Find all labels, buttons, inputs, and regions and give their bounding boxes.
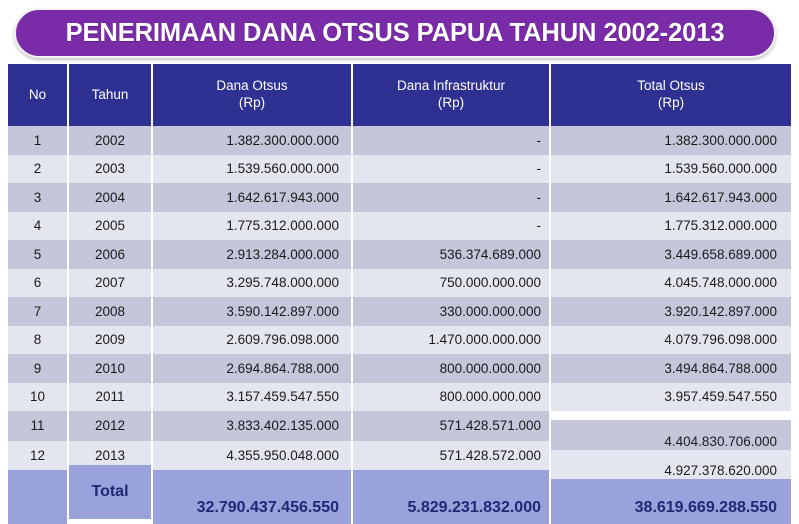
title-banner: PENERIMAAN DANA OTSUS PAPUA TAHUN 2002-2… <box>14 8 776 58</box>
cell-dana-otsus: 3.157.459.547.550 <box>152 383 352 412</box>
cell-dana-infrastruktur: - <box>352 183 550 212</box>
cell-dana-otsus: 2.694.864.788.000 <box>152 354 352 383</box>
table-row: 10 2011 3.157.459.547.550 800.000.000.00… <box>8 383 791 412</box>
cell-dana-infrastruktur: 800.000.000.000 <box>352 354 550 383</box>
cell-total-otsus: 1.382.300.000.000 <box>550 126 791 155</box>
column-header-total-otsus-line2: (Rp) <box>551 95 791 112</box>
table-row: 6 2007 3.295.748.000.000 750.000.000.000… <box>8 269 791 298</box>
column-header-dana-infrastruktur-line1: Dana Infrastruktur <box>353 78 549 95</box>
cell-dana-infrastruktur: 571.428.571.000 <box>352 411 550 441</box>
column-header-dana-infrastruktur: Dana Infrastruktur (Rp) <box>352 64 550 126</box>
cell-tahun: 2010 <box>68 354 152 383</box>
cell-total-otsus: 3.957.459.547.550 <box>550 383 791 412</box>
cell-no: 4 <box>8 212 68 241</box>
cell-no: 6 <box>8 269 68 298</box>
column-header-dana-otsus-line2: (Rp) <box>153 95 351 112</box>
cell-dana-infrastruktur: - <box>352 126 550 155</box>
column-header-total-otsus-line1: Total Otsus <box>551 78 791 95</box>
cell-dana-otsus: 3.295.748.000.000 <box>152 269 352 298</box>
cell-no: 10 <box>8 383 68 412</box>
table-row: 1 2002 1.382.300.000.000 - 1.382.300.000… <box>8 126 791 155</box>
cell-tahun: 2011 <box>68 383 152 412</box>
total-row-dana-otsus: 32.790.437.456.550 <box>152 470 352 524</box>
cell-tahun: 2003 <box>68 155 152 184</box>
table-row: 8 2009 2.609.796.098.000 1.470.000.000.0… <box>8 326 791 355</box>
column-header-no: No <box>8 64 68 126</box>
cell-dana-otsus: 3.590.142.897.000 <box>152 297 352 326</box>
cell-total-otsus: 3.494.864.788.000 <box>550 354 791 383</box>
cell-no: 5 <box>8 240 68 269</box>
cell-total-otsus: 4.079.796.098.000 <box>550 326 791 355</box>
column-header-dana-otsus: Dana Otsus (Rp) <box>152 64 352 126</box>
cell-dana-otsus: 1.775.312.000.000 <box>152 212 352 241</box>
cell-no: 11 <box>8 411 68 441</box>
cell-total-otsus: 4.927.378.620.000 <box>550 450 791 480</box>
cell-dana-infrastruktur: 800.000.000.000 <box>352 383 550 412</box>
table-row: 7 2008 3.590.142.897.000 330.000.000.000… <box>8 297 791 326</box>
cell-total-otsus: 4.404.830.706.000 <box>550 420 791 450</box>
cell-no: 2 <box>8 155 68 184</box>
cell-dana-infrastruktur: 1.470.000.000.000 <box>352 326 550 355</box>
table-row: 2 2003 1.539.560.000.000 - 1.539.560.000… <box>8 155 791 184</box>
cell-total-otsus: 3.449.658.689.000 <box>550 240 791 269</box>
cell-dana-infrastruktur: 571.428.572.000 <box>352 441 550 471</box>
cell-tahun: 2008 <box>68 297 152 326</box>
cell-no: 9 <box>8 354 68 383</box>
column-header-tahun-line1: Tahun <box>69 87 151 104</box>
column-header-dana-otsus-line1: Dana Otsus <box>153 78 351 95</box>
total-row-dana-infrastruktur: 5.829.231.832.000 <box>352 470 550 524</box>
total-row-no <box>8 470 68 524</box>
cell-dana-otsus: 4.355.950.048.000 <box>152 441 352 471</box>
title-banner-pill: PENERIMAAN DANA OTSUS PAPUA TAHUN 2002-2… <box>14 8 776 58</box>
column-header-total-otsus: Total Otsus (Rp) <box>550 64 791 126</box>
cell-tahun: 2006 <box>68 240 152 269</box>
table-row: 5 2006 2.913.284.000.000 536.374.689.000… <box>8 240 791 269</box>
table-row: 11 2012 3.833.402.135.000 571.428.571.00… <box>8 411 791 441</box>
cell-no: 8 <box>8 326 68 355</box>
cell-total-otsus: 3.920.142.897.000 <box>550 297 791 326</box>
page-title: PENERIMAAN DANA OTSUS PAPUA TAHUN 2002-2… <box>66 19 725 48</box>
table-row: 3 2004 1.642.617.943.000 - 1.642.617.943… <box>8 183 791 212</box>
cell-total-otsus: 4.045.748.000.000 <box>550 269 791 298</box>
cell-tahun: 2012 <box>68 411 152 441</box>
cell-tahun: 2007 <box>68 269 152 298</box>
column-header-no-line1: No <box>8 87 67 104</box>
table-header: No Tahun Dana Otsus (Rp) Dana Infrastruk… <box>8 64 791 126</box>
cell-dana-otsus: 1.382.300.000.000 <box>152 126 352 155</box>
column-header-dana-infrastruktur-line2: (Rp) <box>353 95 549 112</box>
cell-tahun: 2002 <box>68 126 152 155</box>
cell-tahun: 2005 <box>68 212 152 241</box>
cell-dana-infrastruktur: 536.374.689.000 <box>352 240 550 269</box>
cell-dana-infrastruktur: - <box>352 155 550 184</box>
cell-total-otsus: 1.775.312.000.000 <box>550 212 791 241</box>
table-row: 4 2005 1.775.312.000.000 - 1.775.312.000… <box>8 212 791 241</box>
cell-no: 3 <box>8 183 68 212</box>
cell-dana-infrastruktur: 330.000.000.000 <box>352 297 550 326</box>
cell-dana-otsus: 2.609.796.098.000 <box>152 326 352 355</box>
cell-no: 12 <box>8 441 68 471</box>
cell-total-otsus: 1.539.560.000.000 <box>550 155 791 184</box>
cell-dana-infrastruktur: - <box>352 212 550 241</box>
table-container: No Tahun Dana Otsus (Rp) Dana Infrastruk… <box>8 64 791 514</box>
cell-dana-otsus: 1.539.560.000.000 <box>152 155 352 184</box>
cell-no: 7 <box>8 297 68 326</box>
total-row-label: Total <box>68 465 152 519</box>
cell-total-otsus: 1.642.617.943.000 <box>550 183 791 212</box>
cell-dana-otsus: 1.642.617.943.000 <box>152 183 352 212</box>
table-body: 1 2002 1.382.300.000.000 - 1.382.300.000… <box>8 126 791 524</box>
cell-dana-otsus: 2.913.284.000.000 <box>152 240 352 269</box>
table-row: 9 2010 2.694.864.788.000 800.000.000.000… <box>8 354 791 383</box>
column-header-tahun: Tahun <box>68 64 152 126</box>
otsus-table: No Tahun Dana Otsus (Rp) Dana Infrastruk… <box>8 64 791 524</box>
cell-tahun: 2009 <box>68 326 152 355</box>
header-row: No Tahun Dana Otsus (Rp) Dana Infrastruk… <box>8 64 791 126</box>
cell-no: 1 <box>8 126 68 155</box>
cell-dana-otsus: 3.833.402.135.000 <box>152 411 352 441</box>
cell-tahun: 2004 <box>68 183 152 212</box>
cell-dana-infrastruktur: 750.000.000.000 <box>352 269 550 298</box>
